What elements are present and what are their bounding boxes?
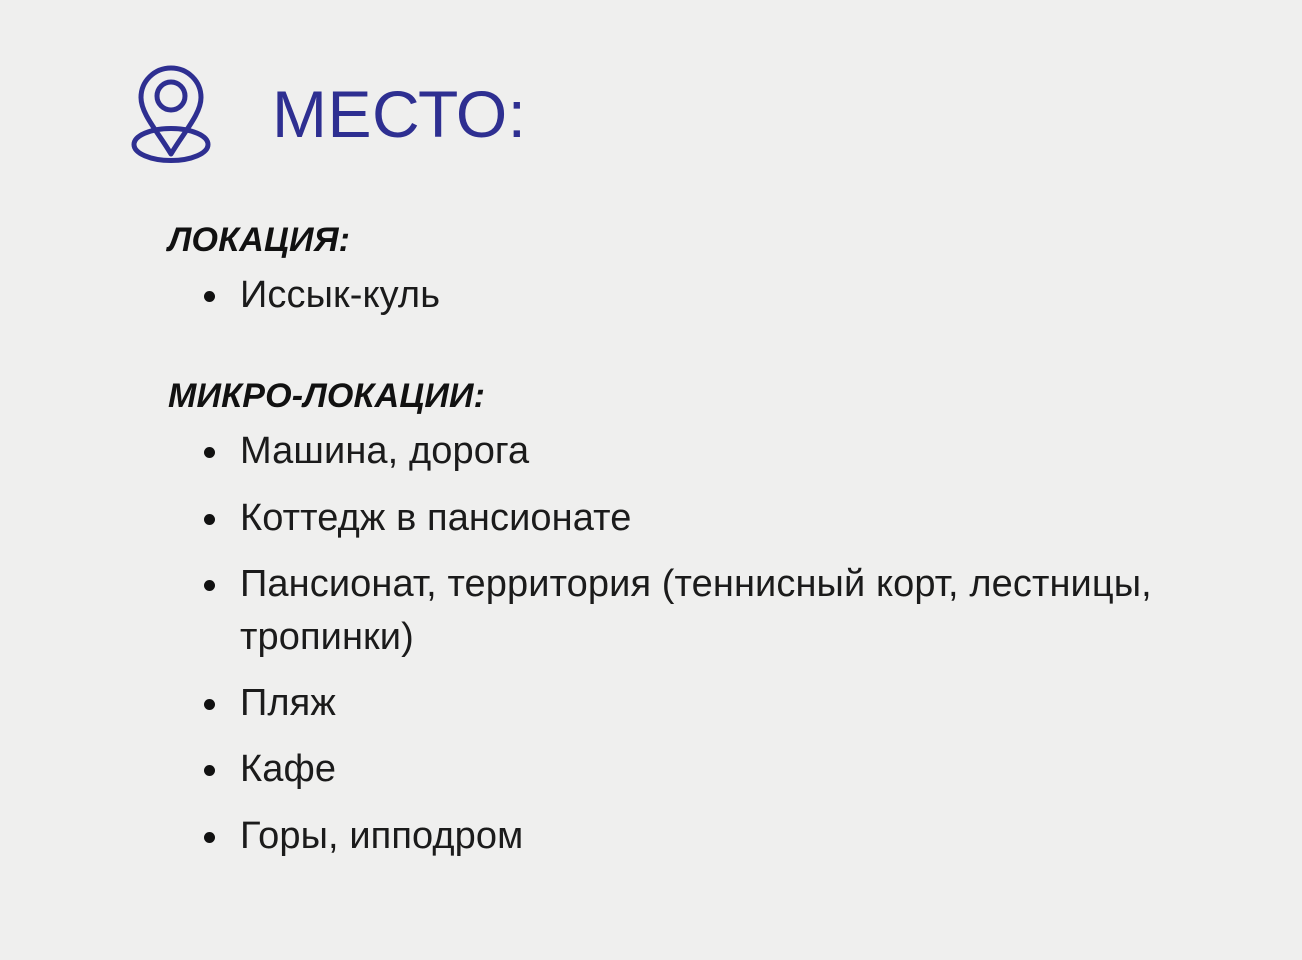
micro-locations-list: Машина, дорога Коттедж в пансионате Панс… [168, 425, 1168, 862]
list-item: Пляж [168, 677, 1160, 729]
list-item-label: Машина, дорога [240, 430, 529, 472]
section-micro-locations: МИКРО-ЛОКАЦИИ: Машина, дорога Коттедж в … [168, 378, 1168, 862]
list-item-label: Пляж [240, 682, 336, 724]
bullet-dot-icon [204, 765, 215, 776]
list-item: Горы, ипподром [168, 810, 1160, 862]
bullet-dot-icon [204, 699, 215, 710]
bullet-dot-icon [204, 514, 215, 525]
section-heading-location: ЛОКАЦИЯ: [168, 222, 1168, 259]
bullet-dot-icon [204, 447, 215, 458]
list-item: Машина, дорога [168, 425, 1160, 477]
list-item-label: Иссык-куль [240, 274, 440, 316]
list-item-label: Горы, ипподром [240, 815, 523, 857]
list-item: Иссык-куль [168, 269, 1160, 321]
slide-header: МЕСТО: [128, 64, 527, 164]
content-body: ЛОКАЦИЯ: Иссык-куль МИКРО-ЛОКАЦИИ: Машин… [168, 222, 1168, 862]
bullet-dot-icon [204, 580, 215, 591]
page-title: МЕСТО: [272, 81, 527, 147]
bullet-dot-icon [204, 291, 215, 302]
list-item: Кафе [168, 743, 1160, 795]
list-item-label: Пансионат, территория (теннисный корт, л… [240, 563, 1152, 657]
location-list: Иссык-куль [168, 269, 1168, 321]
list-item: Пансионат, территория (теннисный корт, л… [168, 558, 1160, 663]
bullet-dot-icon [204, 832, 215, 843]
section-location: ЛОКАЦИЯ: Иссык-куль [168, 222, 1168, 322]
map-pin-icon [128, 64, 214, 164]
slide-canvas: МЕСТО: ЛОКАЦИЯ: Иссык-куль МИКРО-ЛОКАЦИИ… [0, 0, 1302, 960]
list-item-label: Коттедж в пансионате [240, 497, 631, 539]
section-heading-micro-locations: МИКРО-ЛОКАЦИИ: [168, 378, 1168, 415]
list-item: Коттедж в пансионате [168, 492, 1160, 544]
list-item-label: Кафе [240, 748, 336, 790]
